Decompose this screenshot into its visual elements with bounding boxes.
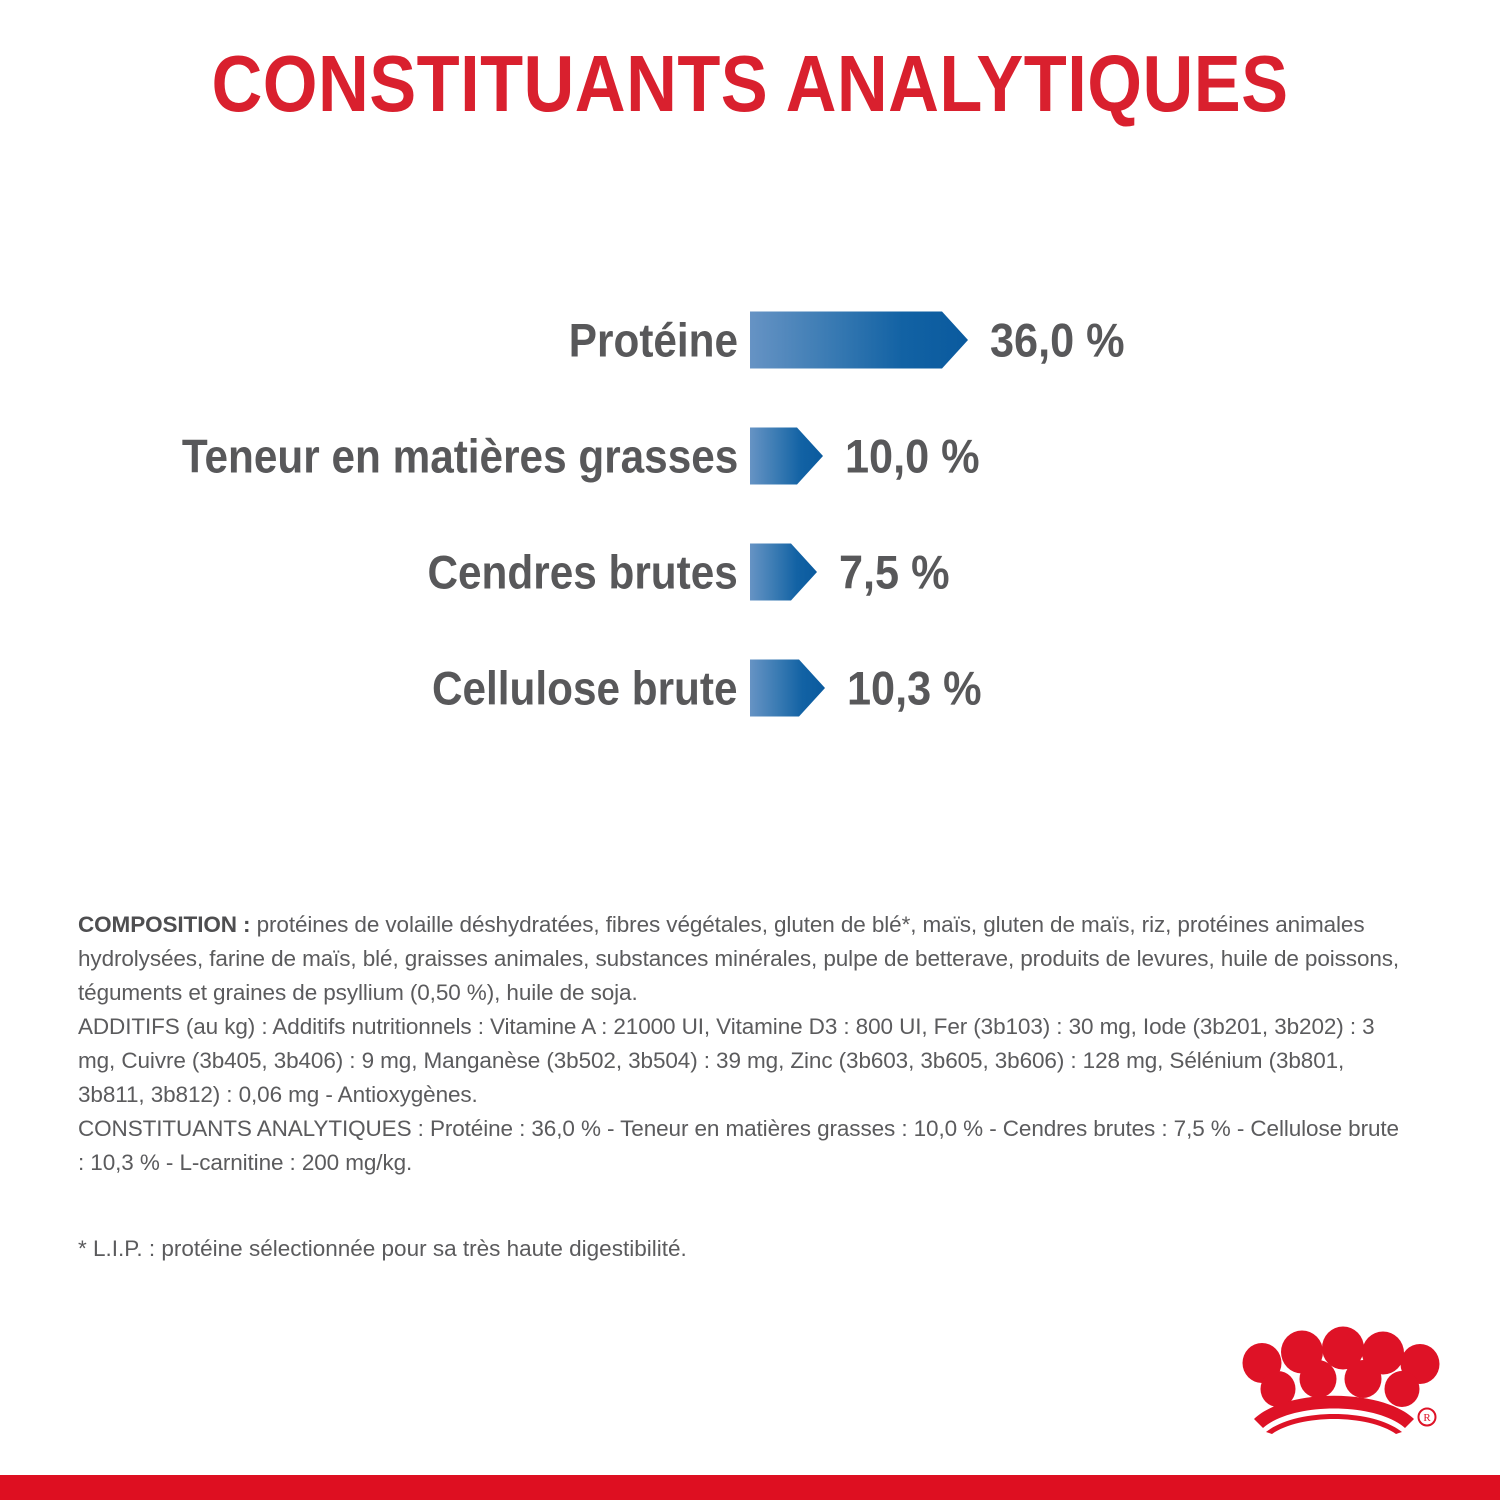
nutrient-label: Protéine bbox=[569, 317, 738, 364]
svg-text:R: R bbox=[1423, 1412, 1431, 1424]
composition-ingredients-text: protéines de volaille déshydratées, fibr… bbox=[78, 912, 1399, 1005]
composition-lead-label: COMPOSITION : bbox=[78, 912, 250, 937]
nutrient-bar bbox=[750, 312, 968, 369]
nutrient-value: 7,5 % bbox=[839, 549, 950, 596]
nutrient-label: Cellulose brute bbox=[432, 665, 738, 712]
nutrient-label: Teneur en matières grasses bbox=[182, 433, 738, 480]
lip-footnote: * L.I.P. : protéine sélectionnée pour sa… bbox=[78, 1232, 687, 1266]
nutrient-bar bbox=[750, 428, 823, 485]
nutrient-bar bbox=[750, 660, 825, 717]
nutrient-value: 10,3 % bbox=[847, 665, 982, 712]
composition-ingredients-paragraph: COMPOSITION : protéines de volaille désh… bbox=[78, 908, 1410, 1010]
page-title: CONSTITUANTS ANALYTIQUES bbox=[90, 44, 1410, 124]
nutrient-value: 10,0 % bbox=[845, 433, 980, 480]
nutrient-row: Cellulose brute 10,3 % bbox=[0, 630, 1500, 746]
nutrient-row: Protéine 36,0 % bbox=[0, 282, 1500, 398]
composition-block: COMPOSITION : protéines de volaille désh… bbox=[78, 908, 1410, 1180]
registered-trademark-mark: R bbox=[1419, 1409, 1436, 1426]
nutrient-row: Cendres brutes 7,5 % bbox=[0, 514, 1500, 630]
nutrient-value: 36,0 % bbox=[990, 317, 1125, 364]
nutrient-label: Cendres brutes bbox=[428, 549, 738, 596]
composition-analytical-paragraph: CONSTITUANTS ANALYTIQUES : Protéine : 36… bbox=[78, 1112, 1410, 1180]
composition-additives-paragraph: ADDITIFS (au kg) : Additifs nutritionnel… bbox=[78, 1010, 1410, 1112]
nutrient-bar bbox=[750, 544, 817, 601]
nutrient-row: Teneur en matières grasses 10,0 % bbox=[0, 398, 1500, 514]
royal-canin-crown-icon: R bbox=[1226, 1316, 1442, 1434]
analytical-constituents-chart: Protéine 36,0 % Teneur en matières grass… bbox=[0, 282, 1500, 746]
bottom-red-bar bbox=[0, 1475, 1500, 1500]
